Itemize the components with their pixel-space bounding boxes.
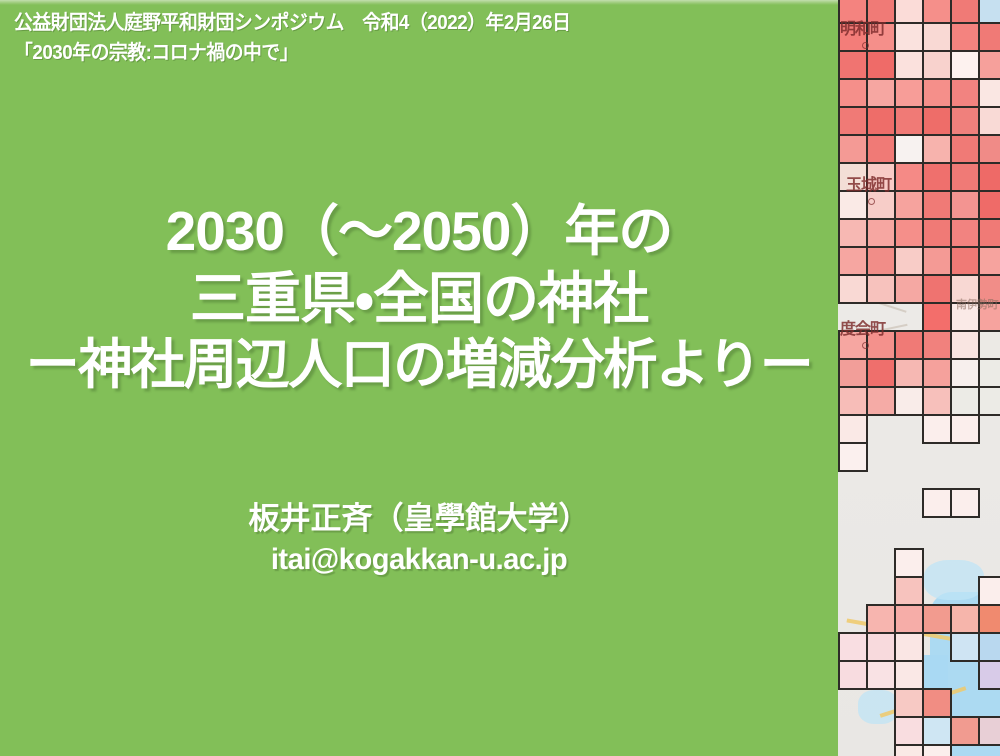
mesh-cell [866, 78, 896, 108]
mesh-cell [950, 716, 980, 746]
mesh-cell [950, 22, 980, 52]
mesh-cell [950, 78, 980, 108]
mesh-cell [894, 78, 924, 108]
mesh-cell [838, 134, 868, 164]
mesh-cell [838, 274, 868, 304]
map-place-marker-icon [868, 198, 875, 205]
mesh-cell [978, 660, 1000, 690]
mesh-cell [922, 716, 952, 746]
mesh-cell [894, 218, 924, 248]
map-panel: 明和町玉城町度会町南伊勢町 [838, 0, 1000, 756]
mesh-cell [950, 106, 980, 136]
author-name: 板井正斉（皇學館大学） [0, 498, 838, 540]
mesh-cell [838, 218, 868, 248]
mesh-cell [978, 0, 1000, 24]
mesh-cell [922, 106, 952, 136]
mesh-cell [950, 632, 980, 662]
mesh-cell [950, 50, 980, 80]
mesh-cell [978, 106, 1000, 136]
mesh-cell [978, 218, 1000, 248]
mesh-cell [978, 716, 1000, 746]
map-place-label: 玉城町 [846, 178, 891, 194]
mesh-cell [838, 358, 868, 388]
mesh-cell [866, 134, 896, 164]
mesh-cell [866, 50, 896, 80]
title-line-2: 三重県・全国の神社 [0, 265, 838, 332]
mesh-cell [838, 246, 868, 276]
map-place-label: 明和町 [840, 22, 885, 38]
mesh-cell [894, 190, 924, 220]
mesh-cell [866, 274, 896, 304]
mesh-cell [838, 386, 868, 416]
water-inlet-upper [924, 560, 984, 600]
mesh-cell [922, 358, 952, 388]
top-edge-highlight [0, 0, 838, 5]
mesh-cell [978, 162, 1000, 192]
mesh-cell [894, 162, 924, 192]
mesh-cell [950, 0, 980, 24]
mesh-cell [838, 660, 868, 690]
mesh-cell [894, 632, 924, 662]
page-title: 2030（～2050）年の 三重県・全国の神社 ー神社周辺人口の増減分析よりー [0, 198, 838, 399]
mesh-cell [838, 442, 868, 472]
mesh-cell [894, 50, 924, 80]
mesh-cell [866, 660, 896, 690]
mesh-cell [894, 22, 924, 52]
mesh-cell [922, 22, 952, 52]
map-place-marker-icon [862, 342, 869, 349]
mesh-cell [950, 134, 980, 164]
mesh-cell [922, 50, 952, 80]
mesh-cell [922, 330, 952, 360]
mesh-cell [950, 218, 980, 248]
mesh-cell [978, 22, 1000, 52]
mesh-cell [894, 660, 924, 690]
header-symposium-line: 公益財団法人庭野平和財団シンポジウム 令和4（2022）年2月26日 [14, 8, 766, 38]
mesh-cell [922, 488, 952, 518]
mesh-cell [894, 330, 924, 360]
mesh-cell [922, 0, 952, 24]
mesh-cell [894, 576, 924, 606]
mesh-cell [894, 246, 924, 276]
map-place-label: 度会町 [840, 322, 885, 338]
mesh-cell [978, 78, 1000, 108]
mesh-cell [894, 744, 924, 756]
mesh-cell [978, 358, 1000, 388]
mesh-cell [922, 386, 952, 416]
mesh-cell [950, 162, 980, 192]
mesh-cell [950, 386, 980, 416]
mesh-cell [838, 414, 868, 444]
mesh-cell [922, 604, 952, 634]
mesh-cell [922, 274, 952, 304]
map-place-marker-icon [862, 42, 869, 49]
mesh-cell [894, 106, 924, 136]
mesh-cell [922, 744, 952, 756]
mesh-cell [922, 688, 952, 718]
mesh-cell [894, 716, 924, 746]
mesh-cell [978, 190, 1000, 220]
mesh-cell [978, 604, 1000, 634]
mesh-cell [950, 330, 980, 360]
mesh-cell [978, 632, 1000, 662]
mesh-cell [838, 106, 868, 136]
mesh-cell [894, 688, 924, 718]
mesh-cell [978, 134, 1000, 164]
mesh-cell [978, 246, 1000, 276]
mesh-cell [978, 50, 1000, 80]
mesh-cell [922, 414, 952, 444]
mesh-cell [922, 218, 952, 248]
author-block: 板井正斉（皇學館大学） itai@kogakkan-u.ac.jp [0, 498, 838, 580]
mesh-cell [978, 576, 1000, 606]
mesh-cell [922, 302, 952, 332]
mesh-cell [894, 386, 924, 416]
mesh-cell [894, 604, 924, 634]
mesh-cell [894, 0, 924, 24]
mesh-cell [950, 604, 980, 634]
mesh-cell [894, 548, 924, 578]
mesh-cell [922, 246, 952, 276]
mesh-cell [866, 246, 896, 276]
slide-green-background: 公益財団法人庭野平和財団シンポジウム 令和4（2022）年2月26日 「2030… [0, 0, 838, 756]
title-line-3: ー神社周辺人口の増減分析よりー [0, 332, 838, 399]
mesh-cell [950, 488, 980, 518]
mesh-cell [950, 358, 980, 388]
mesh-cell [894, 358, 924, 388]
mesh-cell [922, 78, 952, 108]
mesh-cell [838, 78, 868, 108]
mesh-cell [922, 134, 952, 164]
mesh-cell [838, 50, 868, 80]
mesh-cell [866, 106, 896, 136]
mesh-cell [950, 414, 980, 444]
mesh-cell [922, 162, 952, 192]
mesh-cell [978, 386, 1000, 416]
mesh-cell [866, 604, 896, 634]
mesh-cell [866, 358, 896, 388]
mesh-cell [894, 274, 924, 304]
mesh-cell [950, 246, 980, 276]
mesh-cell [922, 190, 952, 220]
mesh-cell [866, 386, 896, 416]
slide-header: 公益財団法人庭野平和財団シンポジウム 令和4（2022）年2月26日 「2030… [14, 8, 814, 68]
header-theme-line: 「2030年の宗教:コロナ禍の中で」 [14, 38, 766, 68]
water-inlet-lower [858, 690, 898, 724]
mesh-cell [838, 190, 868, 220]
mesh-cell [866, 632, 896, 662]
title-line-1: 2030（～2050）年の [0, 198, 838, 265]
mesh-cell [838, 632, 868, 662]
author-email: itai@kogakkan-u.ac.jp [13, 540, 826, 580]
mesh-cell [894, 134, 924, 164]
presentation-slide: 公益財団法人庭野平和財団シンポジウム 令和4（2022）年2月26日 「2030… [0, 0, 1000, 756]
map-place-label: 南伊勢町 [956, 297, 998, 313]
mesh-cell [950, 190, 980, 220]
mesh-cell [866, 190, 896, 220]
mesh-cell [978, 330, 1000, 360]
mesh-cell [866, 218, 896, 248]
